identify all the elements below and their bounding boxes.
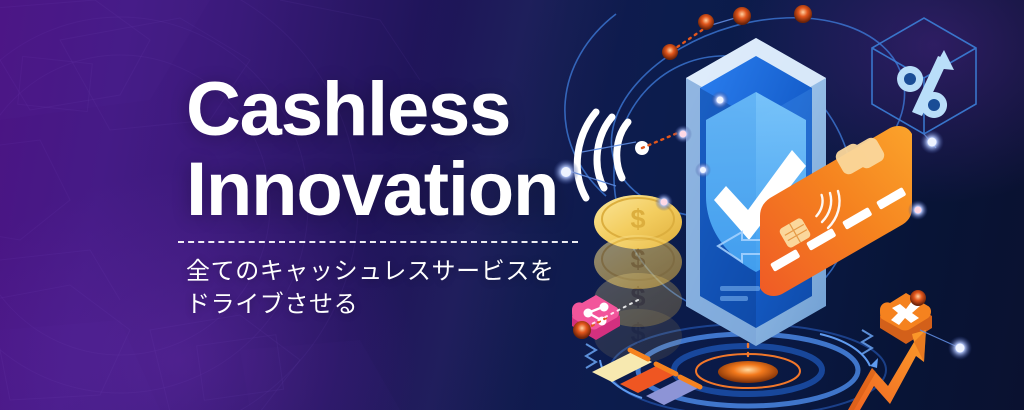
svg-text:$: $: [630, 204, 645, 234]
page-title: Cashless Innovation: [186, 70, 558, 230]
svg-text:$: $: [630, 282, 645, 312]
page-subtitle: 全てのキャッシュレスサービスを ドライブさせる: [186, 255, 555, 321]
percent-icon: [897, 50, 954, 118]
illustration: $ $ $ $: [520, 0, 1024, 410]
hero-banner: Cashless Innovation 全てのキャッシュレスサービスを ドライブ…: [0, 0, 1024, 410]
title-divider: [178, 241, 578, 243]
coin-stack: $ $ $ $: [594, 195, 682, 363]
svg-text:$: $: [630, 318, 645, 348]
svg-text:$: $: [630, 244, 645, 274]
percent-cube: [872, 18, 976, 134]
